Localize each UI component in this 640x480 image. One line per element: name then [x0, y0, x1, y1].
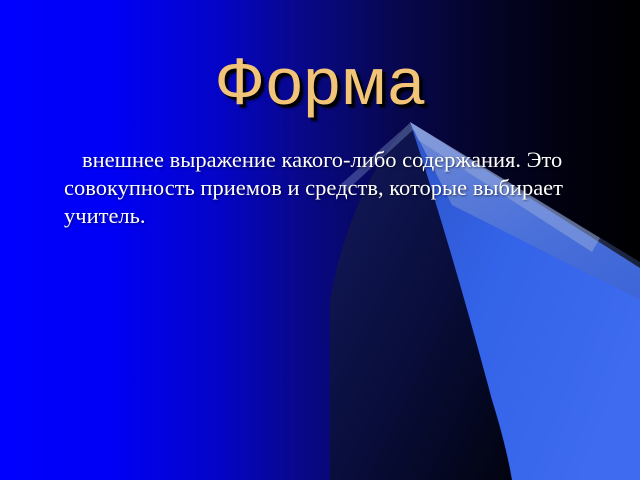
slide-body-block: внешнее выражение какого-либо содержания…: [64, 146, 564, 230]
presentation-slide: Форма внешнее выражение какого-либо соде…: [0, 0, 640, 480]
slide-body-text: внешнее выражение какого-либо содержания…: [64, 146, 564, 230]
slide-title: Форма: [0, 48, 640, 114]
